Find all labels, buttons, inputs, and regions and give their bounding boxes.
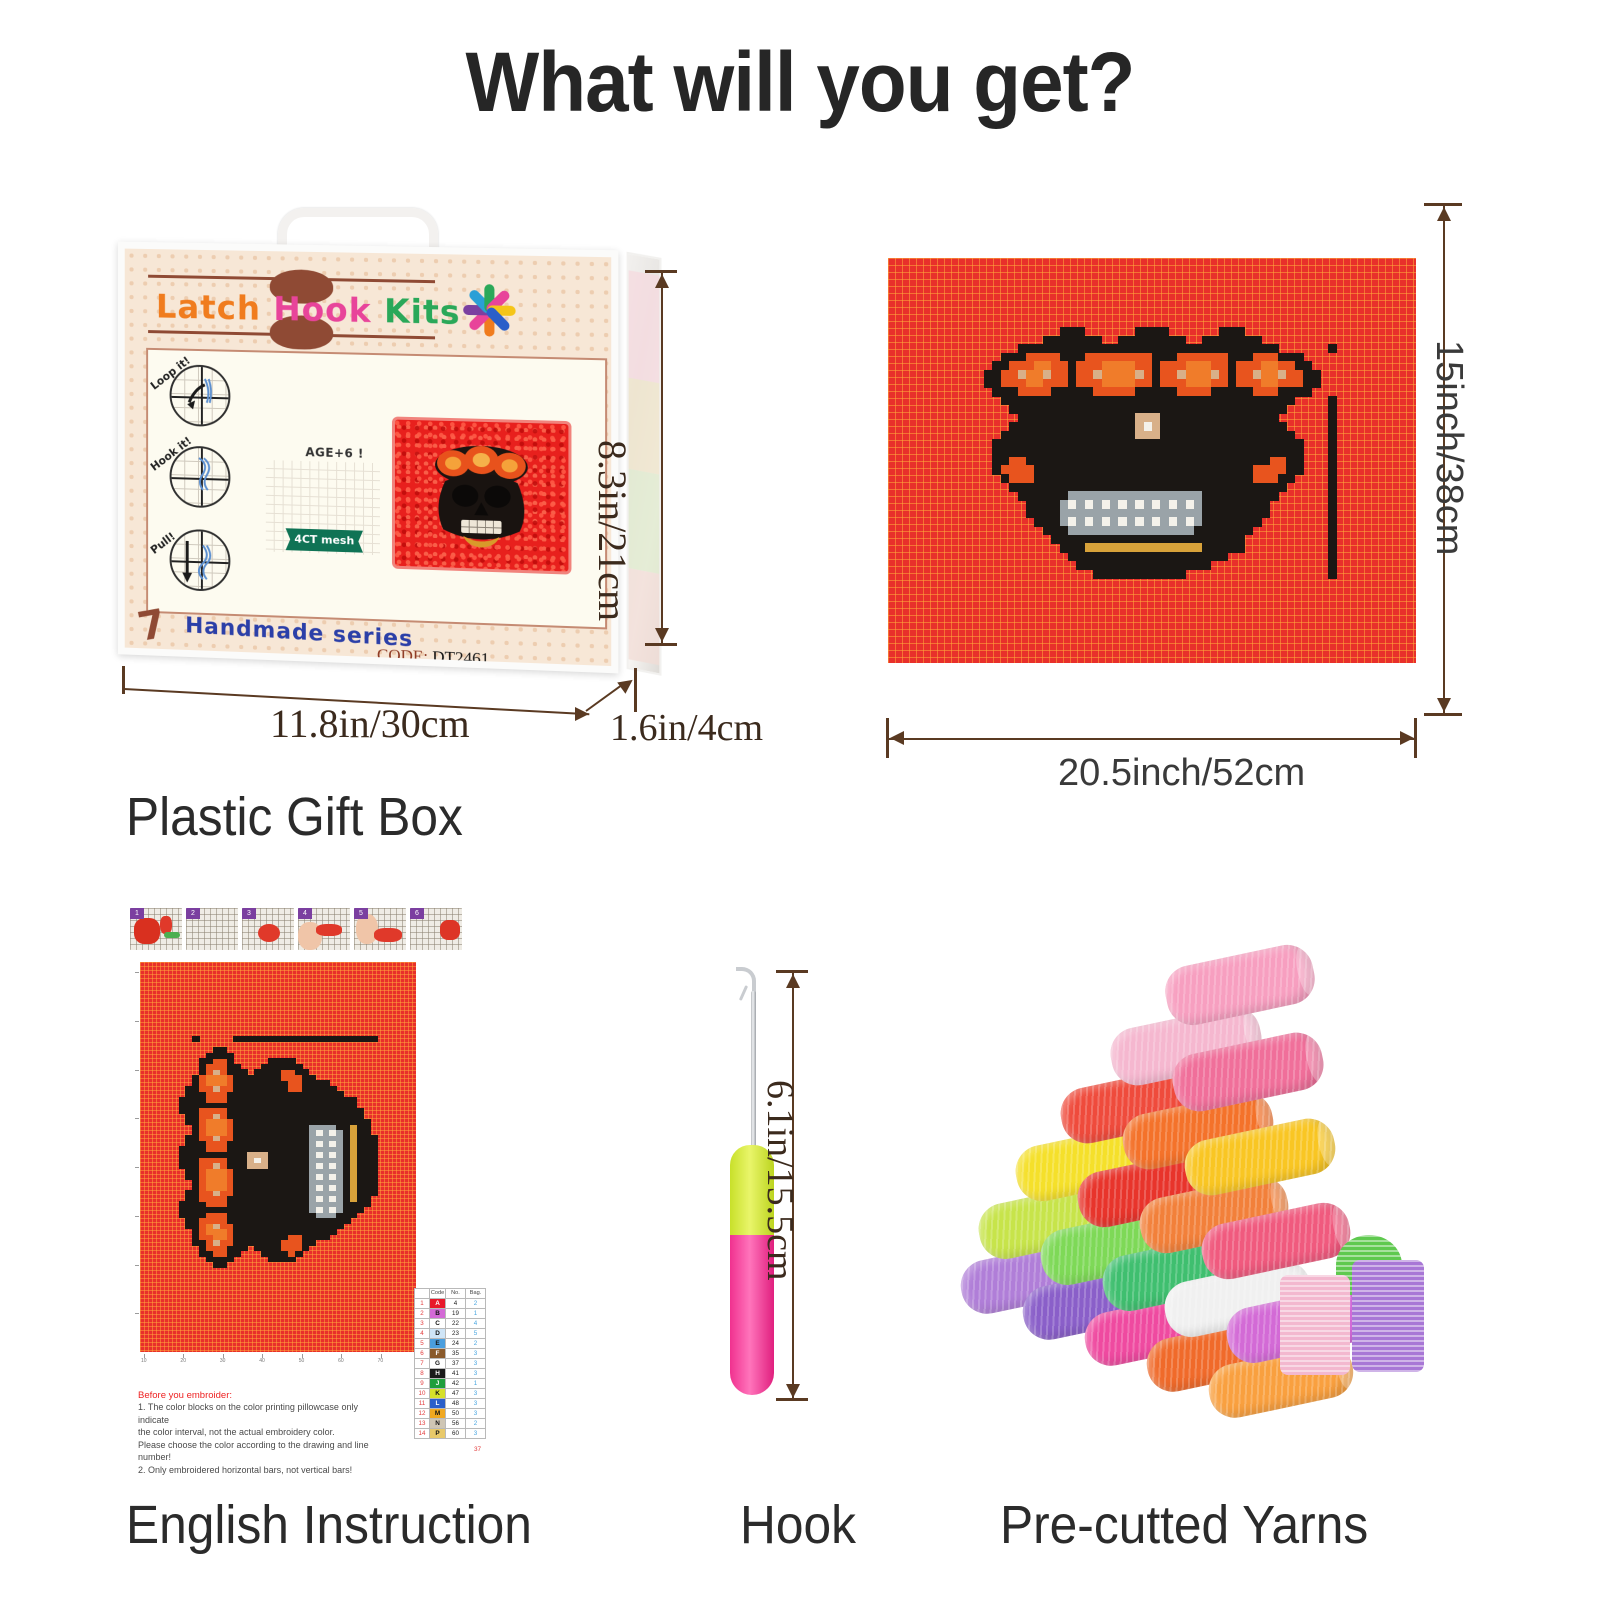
- pattern-skull-art: [140, 962, 416, 1352]
- row-bag: 5: [466, 1328, 486, 1338]
- skull-pixel: [364, 1195, 371, 1201]
- skull-pixel: [364, 1119, 371, 1125]
- table-row: 3C224: [415, 1318, 486, 1328]
- thumbnail-number: 2: [186, 908, 200, 919]
- row-index: 3: [415, 1318, 430, 1328]
- ruler-number: 70: [378, 1358, 384, 1364]
- skull-pixel: [371, 1179, 378, 1185]
- row-bag: 3: [466, 1388, 486, 1398]
- row-index: 5: [415, 1338, 430, 1348]
- caption-plastic-gift-box: Plastic Gift Box: [126, 786, 463, 848]
- skull-pixel: [1236, 543, 1245, 552]
- row-code: G: [430, 1358, 446, 1368]
- yarn-bundle-upright: [1352, 1260, 1424, 1372]
- row-number: 47: [446, 1388, 466, 1398]
- table-row: 4D235: [415, 1328, 486, 1338]
- row-bag: 4: [466, 1318, 486, 1328]
- row-code: J: [430, 1378, 446, 1388]
- before-you-embroider-note: Before you embroider: 1. The color block…: [138, 1390, 376, 1476]
- row-number: 4: [446, 1298, 466, 1308]
- thumbnail-number: 3: [242, 908, 256, 919]
- skull-pixel: [1177, 569, 1186, 578]
- table-row: 13N562: [415, 1418, 486, 1428]
- skull-pixel: [1278, 483, 1287, 492]
- box-depth-label: 1.6in/4cm: [610, 706, 763, 750]
- skull-pixel: [309, 1239, 316, 1245]
- skull-pixel: [371, 1157, 378, 1163]
- ruler-number: 40: [259, 1358, 265, 1364]
- skull-pixel: [302, 1245, 309, 1251]
- skull-pixel: [371, 1190, 378, 1196]
- canvas-width-label: 20.5inch/52cm: [1058, 752, 1305, 795]
- step-diagram-hook: [170, 445, 231, 508]
- yarn-bundle-upright: [1280, 1275, 1350, 1375]
- row-index: 4: [415, 1328, 430, 1338]
- skull-pixel: [371, 1184, 378, 1190]
- hook-length-label: 6.1in/15.5cm: [758, 1080, 802, 1281]
- precut-yarns-image: [960, 945, 1440, 1395]
- ruler-tick: [135, 972, 139, 973]
- row-index: 12: [415, 1408, 430, 1418]
- box-body: Latch Hook Kits Loop it!: [112, 237, 641, 682]
- canvas-height-label: 15inch/38cm: [1427, 340, 1470, 555]
- skull-pixel: [1244, 526, 1253, 535]
- ruler-number: 50: [299, 1358, 305, 1364]
- ruler-tick: [135, 1070, 139, 1071]
- table-row: 11L483: [415, 1398, 486, 1408]
- row-bag: 3: [466, 1348, 486, 1358]
- header-index: [415, 1289, 430, 1299]
- step-thumbnail: 6: [410, 908, 462, 950]
- caption-precutted-yarns: Pre-cutted Yarns: [1000, 1494, 1368, 1556]
- row-code: H: [430, 1368, 446, 1378]
- caption-hook: Hook: [740, 1494, 856, 1556]
- ruler-tick: [135, 1265, 139, 1266]
- skull-pixel: [1295, 465, 1304, 474]
- pinwheel-logo-icon: [451, 276, 518, 344]
- product-code: CODE: DT2461: [377, 645, 489, 669]
- row-bag: 1: [466, 1308, 486, 1318]
- ruler-number: 20: [180, 1358, 186, 1364]
- row-number: 23: [446, 1328, 466, 1338]
- row-code: F: [430, 1348, 446, 1358]
- step-thumbnail: 4: [298, 908, 350, 950]
- product-code-value: DT2461: [432, 647, 489, 668]
- row-code: E: [430, 1338, 446, 1348]
- skull-pixel: [323, 1234, 330, 1240]
- product-size-label: SIZE:: [491, 657, 532, 673]
- row-bag: 2: [466, 1418, 486, 1428]
- instruction-sheet: 1 2 3 4 5 6 1: [126, 900, 486, 1480]
- ruler-tick: [135, 1313, 139, 1314]
- row-bag: 3: [466, 1358, 486, 1368]
- note-line: 1. The color blocks on the color printin…: [138, 1401, 376, 1426]
- row-number: 22: [446, 1318, 466, 1328]
- brand-word-hook: Hook: [273, 289, 371, 330]
- note-title: Before you embroider:: [138, 1390, 376, 1401]
- yarn-color-table: Code No. Bag. 1A422B1913C2244D2355E2426F…: [414, 1288, 486, 1439]
- skull-pixel: [371, 1173, 378, 1179]
- table-row: 10K473: [415, 1388, 486, 1398]
- skull-pixel: [336, 1223, 343, 1229]
- skull-pixel: [1253, 517, 1262, 526]
- skull-pixel: [1303, 387, 1312, 396]
- skull-pixel: [295, 1250, 302, 1256]
- ruler-number: 60: [338, 1358, 344, 1364]
- skull-pixel: [350, 1212, 357, 1218]
- step-thumbnail-strip: 1 2 3 4 5 6: [130, 908, 462, 950]
- row-bag: 3: [466, 1368, 486, 1378]
- row-code: A: [430, 1298, 446, 1308]
- skull-pixel: [329, 1228, 336, 1234]
- gift-box-image: Latch Hook Kits Loop it!: [108, 200, 653, 680]
- row-index: 2: [415, 1308, 430, 1318]
- header-code: Code: [430, 1289, 446, 1299]
- skull-pixel: [1286, 396, 1295, 405]
- rug-preview-photo: [395, 420, 568, 572]
- page-title: What will you get?: [56, 34, 1544, 131]
- skull-pixel: [227, 1053, 234, 1059]
- skull-pixel: [364, 1124, 371, 1130]
- skull-pixel: [364, 1201, 371, 1207]
- row-code: C: [430, 1318, 446, 1328]
- brand-word-latch: Latch: [156, 287, 261, 328]
- skull-pixel: [1219, 552, 1228, 561]
- skull-pixel: [1278, 405, 1287, 414]
- ruler-tick: [135, 1021, 139, 1022]
- row-code: L: [430, 1398, 446, 1408]
- row-number: 24: [446, 1338, 466, 1348]
- header-no: No.: [446, 1289, 466, 1299]
- skull-pixel: [192, 1036, 199, 1042]
- step-diagram-loop: [170, 364, 231, 427]
- row-index: 13: [415, 1418, 430, 1428]
- row-number: 35: [446, 1348, 466, 1358]
- row-number: 41: [446, 1368, 466, 1378]
- product-code-label: CODE:: [377, 645, 428, 666]
- skull-pixel: [227, 1256, 234, 1262]
- skull-pixel: [233, 1250, 240, 1256]
- mesh-canvas-image: [888, 258, 1416, 663]
- table-row: 1A42: [415, 1298, 486, 1308]
- row-index: 1: [415, 1298, 430, 1308]
- caption-english-instruction: English Instruction: [126, 1494, 532, 1556]
- row-number: 56: [446, 1418, 466, 1428]
- skull-pixel: [1202, 561, 1211, 570]
- skull-pixel: [357, 1206, 364, 1212]
- table-row: 12M503: [415, 1408, 486, 1418]
- ruler-tick: [135, 1167, 139, 1168]
- row-code: D: [430, 1328, 446, 1338]
- brand-word-kits: Kits: [384, 291, 461, 332]
- step-thumbnail: 3: [242, 908, 294, 950]
- ruler-tick: [135, 1216, 139, 1217]
- row-bag: 2: [466, 1338, 486, 1348]
- step-diagram-pull: [170, 529, 231, 592]
- skull-pixel: [371, 1168, 378, 1174]
- header-bag: Bag.: [466, 1289, 486, 1299]
- thumbnail-number: 1: [130, 908, 144, 919]
- table-row: 5E242: [415, 1338, 486, 1348]
- thumbnail-number: 4: [298, 908, 312, 919]
- row-number: 19: [446, 1308, 466, 1318]
- row-bag: 1: [466, 1378, 486, 1388]
- row-code: P: [430, 1428, 446, 1438]
- row-bag: 3: [466, 1398, 486, 1408]
- skull-pixel: [371, 1036, 378, 1042]
- table-row: 9J421: [415, 1378, 486, 1388]
- step-thumbnail: 1: [130, 908, 182, 950]
- row-number: 60: [446, 1428, 466, 1438]
- row-index: 9: [415, 1378, 430, 1388]
- ruler-number: 10: [141, 1358, 147, 1364]
- row-code: B: [430, 1308, 446, 1318]
- yarn-total-count: 37: [474, 1446, 481, 1453]
- row-index: 11: [415, 1398, 430, 1408]
- row-bag: 3: [466, 1408, 486, 1418]
- table-row: 2B191: [415, 1308, 486, 1318]
- skull-pixel: [240, 1245, 247, 1251]
- row-number: 42: [446, 1378, 466, 1388]
- skull-pixel: [1261, 509, 1270, 518]
- hook-shaft: [751, 991, 756, 1151]
- box-height-label: 8.3in/21cm: [589, 440, 636, 621]
- row-bag: 2: [466, 1298, 486, 1308]
- skull-pixel: [343, 1217, 350, 1223]
- row-code: M: [430, 1408, 446, 1418]
- box-inner-panel: Loop it! Hook it!: [146, 348, 607, 630]
- table-row: 7G373: [415, 1358, 486, 1368]
- row-number: 48: [446, 1398, 466, 1408]
- ruler-tick: [135, 1118, 139, 1119]
- note-line: the color interval, not the actual embro…: [138, 1426, 376, 1439]
- skull-pixel: [1328, 344, 1337, 353]
- step-thumbnail: 5: [354, 908, 406, 950]
- note-line: Please choose the color according to the…: [138, 1439, 376, 1464]
- ruler-number: 30: [220, 1358, 226, 1364]
- skull-pixel: [371, 1152, 378, 1158]
- skull-pixel: [371, 1135, 378, 1141]
- row-index: 7: [415, 1358, 430, 1368]
- age-note: AGE+6 !: [305, 445, 364, 461]
- skull-pixel: [357, 1108, 364, 1114]
- skull-pixel-art: [888, 258, 1416, 663]
- product-size-value: 52X38CM: [537, 659, 611, 673]
- skull-pixel: [1286, 474, 1295, 483]
- step-thumbnail: 2: [186, 908, 238, 950]
- table-header-row: Code No. Bag.: [415, 1289, 486, 1299]
- table-row: 14P603: [415, 1428, 486, 1438]
- row-index: 10: [415, 1388, 430, 1398]
- skull-pixel: [350, 1097, 357, 1103]
- skull-pixel: [220, 1261, 227, 1267]
- skull-pixel: [371, 1146, 378, 1152]
- row-index: 6: [415, 1348, 430, 1358]
- row-number: 37: [446, 1358, 466, 1368]
- skull-pixel: [288, 1256, 295, 1262]
- table-row: 6F353: [415, 1348, 486, 1358]
- skull-pixel: [1328, 569, 1337, 578]
- row-code: K: [430, 1388, 446, 1398]
- thumbnail-number: 6: [410, 908, 424, 919]
- row-index: 8: [415, 1368, 430, 1378]
- skull-pixel: [371, 1141, 378, 1147]
- row-index: 14: [415, 1428, 430, 1438]
- table-row: 8H413: [415, 1368, 486, 1378]
- box-front-panel: Latch Hook Kits Loop it!: [118, 242, 618, 674]
- box-width-label: 11.8in/30cm: [270, 700, 470, 747]
- pattern-chart: [140, 962, 416, 1352]
- mesh-cloth-ribbon: 4CT mesh cloth: [286, 528, 363, 552]
- skull-pixel: [1312, 379, 1321, 388]
- thumbnail-number: 5: [354, 908, 368, 919]
- row-number: 50: [446, 1408, 466, 1418]
- skull-pixel: [371, 1162, 378, 1168]
- row-code: N: [430, 1418, 446, 1428]
- row-bag: 3: [466, 1428, 486, 1438]
- note-line: 2. Only embroidered horizontal bars, not…: [138, 1464, 376, 1477]
- skull-pixel: [1270, 491, 1279, 500]
